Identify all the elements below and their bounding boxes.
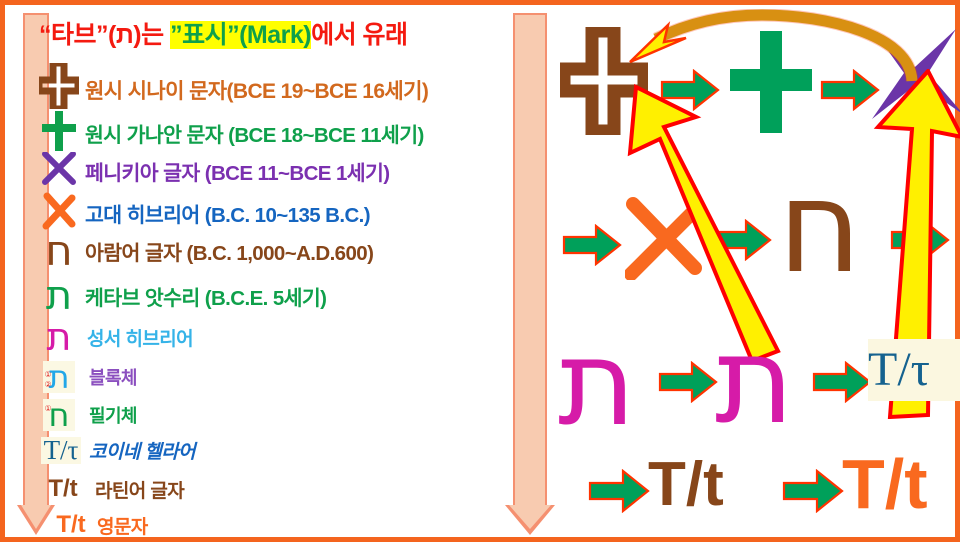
biblical-hebrew-taw-icon: ת bbox=[35, 319, 83, 355]
list-item-label: 라틴어 글자 bbox=[95, 476, 184, 503]
list-item: 페니키아 글자 (BCE 11~BCE 1세기) bbox=[35, 152, 390, 189]
list-item: 원시 가나안 문자 (BCE 18~BCE 11세기) bbox=[35, 111, 424, 154]
plus-cross-svg bbox=[42, 111, 76, 151]
phoenician-x-icon bbox=[35, 152, 83, 189]
right-arrow-svg bbox=[588, 469, 650, 513]
list-item: ח 아람어 글자 (B.C. 1,000~A.D.600) bbox=[35, 231, 373, 271]
ketav-ashuri-taw-icon: ת bbox=[35, 277, 83, 315]
arrow-shaft bbox=[513, 13, 547, 507]
title-part1: “타브”(ת)는 bbox=[39, 21, 164, 49]
green-arrow-9 bbox=[782, 469, 844, 518]
list-item: ת 케타브 앗수리 (B.C.E. 5세기) bbox=[35, 277, 326, 315]
right-arrow-svg bbox=[782, 469, 844, 513]
green-arrow-6 bbox=[658, 361, 718, 408]
page-title: “타브”(ת)는 ”표시”(Mark)에서 유래 bbox=[39, 15, 408, 51]
x-mark-svg bbox=[42, 152, 76, 186]
list-item-label: 필기체 bbox=[89, 402, 137, 428]
orange-english-t: T/t bbox=[842, 449, 928, 519]
list-item: 고대 히브리어 (B.C. 10~135 B.C.) bbox=[35, 192, 370, 233]
slanted-x-svg bbox=[42, 192, 76, 230]
list-item: ח ① 필기체 bbox=[35, 399, 137, 431]
script-evolution-diagram: ח ת ת bbox=[550, 9, 958, 539]
proto-sinaitic-cross-icon bbox=[35, 63, 83, 116]
proto-canaanite-cross-icon bbox=[35, 111, 83, 154]
title-highlight-quote: ”표시” bbox=[170, 21, 239, 49]
list-item-label: 성서 히브리어 bbox=[87, 324, 193, 351]
green-arrow-8 bbox=[588, 469, 650, 518]
cursive-script-taw-icon: ח ① bbox=[35, 399, 83, 431]
latin-t-icon: T/t bbox=[35, 475, 91, 503]
magenta-ashuri-taw: ת bbox=[558, 327, 636, 439]
koine-greek-tau-icon: T/τ bbox=[35, 437, 87, 464]
brown-latin-t: T/t bbox=[648, 454, 724, 516]
list-item-label: 원시 시나이 문자(BCE 19~BCE 16세기) bbox=[85, 75, 428, 105]
infographic-page: “타브”(ת)는 ”표시”(Mark)에서 유래 원시 시나이 문자(BCE 1… bbox=[0, 0, 960, 542]
greek-tau-box: T/τ ① ② bbox=[868, 339, 960, 401]
list-item-label: 페니키아 글자 (BCE 11~BCE 1세기) bbox=[85, 156, 390, 186]
block-script-taw-icon: ת ① ② bbox=[35, 361, 83, 393]
english-t-icon: T/t bbox=[35, 511, 95, 539]
right-arrow-svg bbox=[812, 361, 872, 403]
right-arrow-svg bbox=[658, 361, 718, 403]
stroke-order-mark-2: ② bbox=[44, 381, 51, 389]
list-item-label: 코이네 헬라어 bbox=[89, 437, 195, 464]
title-part-end: 에서 유래 bbox=[311, 21, 407, 49]
list-item-label: 고대 히브리어 (B.C. 10~135 B.C.) bbox=[85, 198, 370, 228]
list-item: 원시 시나이 문자(BCE 19~BCE 16세기) bbox=[35, 63, 428, 116]
list-item: T/t 라틴어 글자 bbox=[35, 475, 184, 503]
list-item-label: 영문자 bbox=[97, 512, 148, 539]
greek-tau-glyph: T/τ bbox=[868, 346, 930, 394]
title-highlight-mark: (Mark) bbox=[239, 21, 311, 49]
cross-outline-svg bbox=[39, 63, 79, 109]
list-item: ת ① ② 블록체 bbox=[35, 361, 137, 393]
list-item: T/τ 코이네 헬라어 bbox=[35, 437, 195, 464]
script-evolution-list: “타브”(ת)는 ”표시”(Mark)에서 유래 원시 시나이 문자(BCE 1… bbox=[35, 9, 505, 539]
stroke-order-mark-1: ① bbox=[45, 405, 52, 413]
magenta-biblical-taw: ת bbox=[715, 325, 794, 439]
green-arrow-7 bbox=[812, 361, 872, 408]
stroke-order-mark-1: ① bbox=[44, 371, 51, 379]
list-item-label: 원시 가나안 문자 (BCE 18~BCE 11세기) bbox=[85, 118, 424, 148]
list-item: T/t 영문자 bbox=[35, 511, 148, 539]
list-item: ת 성서 히브리어 bbox=[35, 319, 193, 355]
list-item-label: 블록체 bbox=[89, 364, 137, 390]
list-item-label: 아람어 글자 (B.C. 1,000~A.D.600) bbox=[85, 236, 373, 266]
arrow-head-inner bbox=[509, 505, 551, 529]
aramaic-taw-icon: ח bbox=[35, 231, 83, 271]
list-item-label: 케타브 앗수리 (B.C.E. 5세기) bbox=[85, 281, 326, 311]
